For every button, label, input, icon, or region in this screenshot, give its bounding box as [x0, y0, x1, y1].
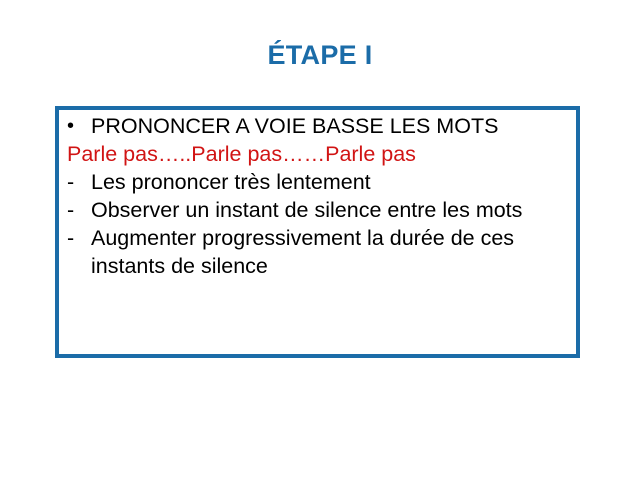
dash-bullet-icon: - — [65, 225, 91, 253]
list-item-label: Observer un instant de silence entre les… — [91, 197, 574, 225]
list-item-label: PRONONCER A VOIE BASSE LES MOTS — [91, 113, 574, 141]
list-item: • PRONONCER A VOIE BASSE LES MOTS — [65, 113, 574, 141]
dash-bullet-icon: - — [65, 197, 91, 225]
list-item: - Les prononcer très lentement — [65, 169, 574, 197]
bullet-dot-icon: • — [65, 113, 91, 141]
slide: ÉTAPE I • PRONONCER A VOIE BASSE LES MOT… — [0, 0, 640, 480]
list-item: - Observer un instant de silence entre l… — [65, 197, 574, 225]
dash-bullet-icon: - — [65, 169, 91, 197]
list-item-label: Les prononcer très lentement — [91, 169, 574, 197]
list-item-label: Augmenter progressivement la durée de ce… — [91, 225, 574, 281]
list-item: - Augmenter progressivement la durée de … — [65, 225, 574, 281]
bullet-list: • PRONONCER A VOIE BASSE LES MOTS Parle … — [65, 113, 574, 281]
content-box: • PRONONCER A VOIE BASSE LES MOTS Parle … — [55, 106, 580, 358]
list-item-chant: Parle pas…..Parle pas……Parle pas — [65, 141, 574, 169]
page-title: ÉTAPE I — [0, 41, 640, 71]
chant-label: Parle pas…..Parle pas……Parle pas — [65, 141, 574, 169]
